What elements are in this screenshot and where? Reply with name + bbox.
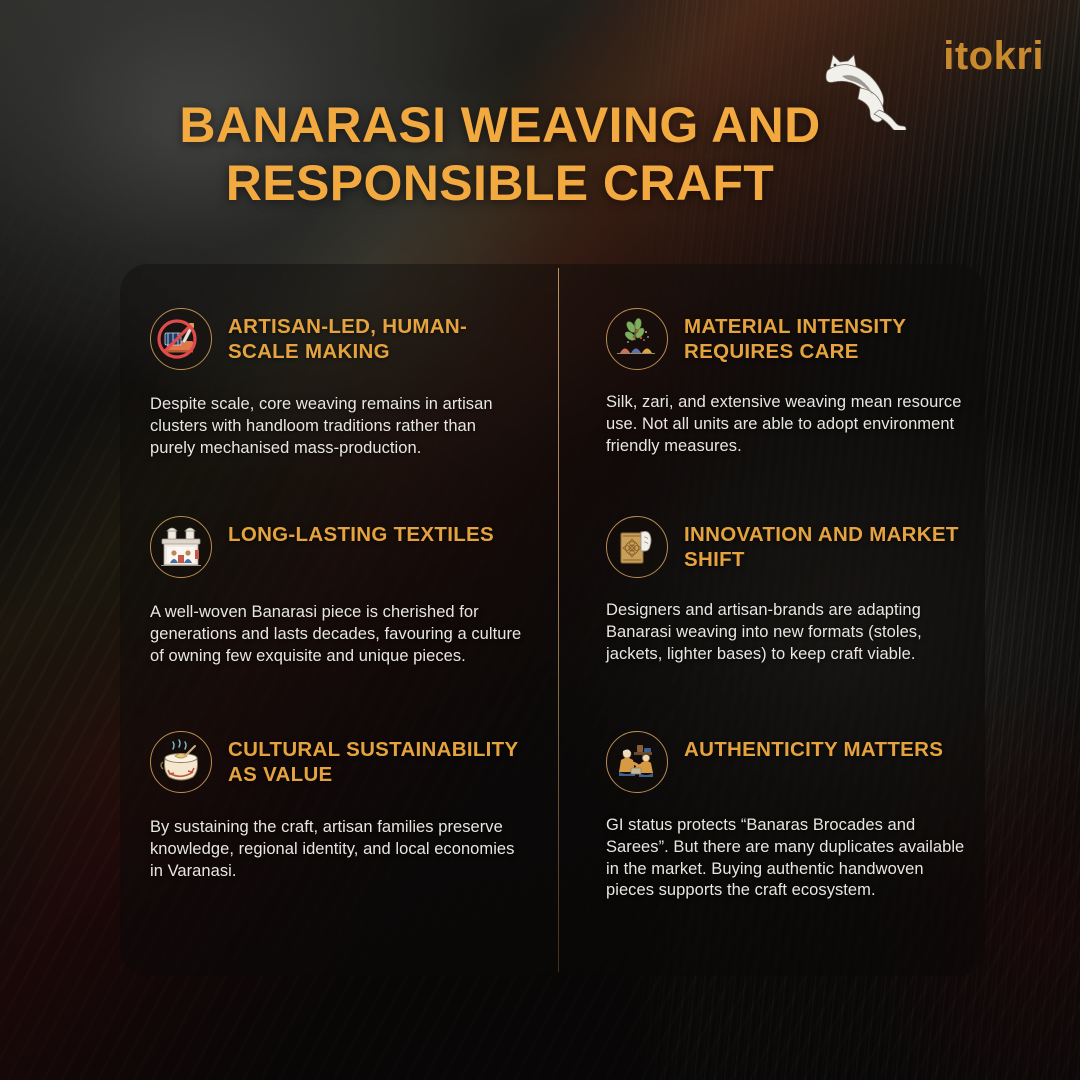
card-title: ARTISAN-LED, HUMAN-SCALE MAKING	[228, 308, 524, 364]
page-title-line-2: RESPONSIBLE CRAFT	[110, 154, 890, 212]
card-header: AUTHENTICITY MATTERS	[606, 731, 965, 793]
steaming-dye-pot-icon	[150, 731, 212, 793]
leaves-and-dye-powder-icon	[606, 308, 668, 370]
card-cultural-sustainability: CULTURAL SUSTAINABILITY AS VALUE By sust…	[120, 687, 558, 976]
card-body: A well-woven Banarasi piece is cherished…	[150, 602, 524, 667]
card-body: GI status protects “Banaras Brocades and…	[606, 815, 965, 902]
page-title: BANARASI WEAVING AND RESPONSIBLE CRAFT	[110, 96, 890, 212]
card-header: MATERIAL INTENSITY REQUIRES CARE	[606, 308, 965, 370]
no-machine-production-icon	[150, 308, 212, 370]
card-artisan-led: ARTISAN-LED, HUMAN-SCALE MAKING Despite …	[120, 264, 558, 472]
card-body: Despite scale, core weaving remains in a…	[150, 394, 524, 459]
card-title: MATERIAL INTENSITY REQUIRES CARE	[684, 308, 965, 364]
two-seated-artisans-icon	[606, 731, 668, 793]
brand-wordmark: itokri	[943, 36, 1044, 76]
card-header: INNOVATION AND MARKET SHIFT	[606, 516, 965, 578]
page-title-line-1: BANARASI WEAVING AND	[110, 96, 890, 154]
brand-logo[interactable]: itokri	[943, 36, 1044, 76]
card-title: INNOVATION AND MARKET SHIFT	[684, 516, 965, 572]
card-body: Silk, zari, and extensive weaving mean r…	[606, 392, 965, 457]
card-header: CULTURAL SUSTAINABILITY AS VALUE	[150, 731, 524, 793]
card-material-intensity: MATERIAL INTENSITY REQUIRES CARE Silk, z…	[558, 264, 985, 472]
card-authenticity-matters: AUTHENTICITY MATTERS GI status protects …	[558, 687, 985, 976]
hand-holding-fabric-swatch-icon	[606, 516, 668, 578]
craft-shopfront-icon	[150, 516, 212, 578]
card-innovation-market-shift: INNOVATION AND MARKET SHIFT Designers an…	[558, 472, 985, 687]
card-header: LONG-LASTING TEXTILES	[150, 516, 524, 578]
card-title: LONG-LASTING TEXTILES	[228, 516, 494, 547]
card-body: Designers and artisan-brands are adaptin…	[606, 600, 965, 665]
card-body: By sustaining the craft, artisan familie…	[150, 817, 524, 882]
cards-grid: ARTISAN-LED, HUMAN-SCALE MAKING Despite …	[120, 264, 985, 976]
card-title: AUTHENTICITY MATTERS	[684, 731, 943, 762]
infographic-poster: itokri BANARASI WEAVING AND RESPONSIBLE …	[0, 0, 1080, 1080]
card-long-lasting-textiles: LONG-LASTING TEXTILES A well-woven Banar…	[120, 472, 558, 687]
card-header: ARTISAN-LED, HUMAN-SCALE MAKING	[150, 308, 524, 370]
card-title: CULTURAL SUSTAINABILITY AS VALUE	[228, 731, 524, 787]
